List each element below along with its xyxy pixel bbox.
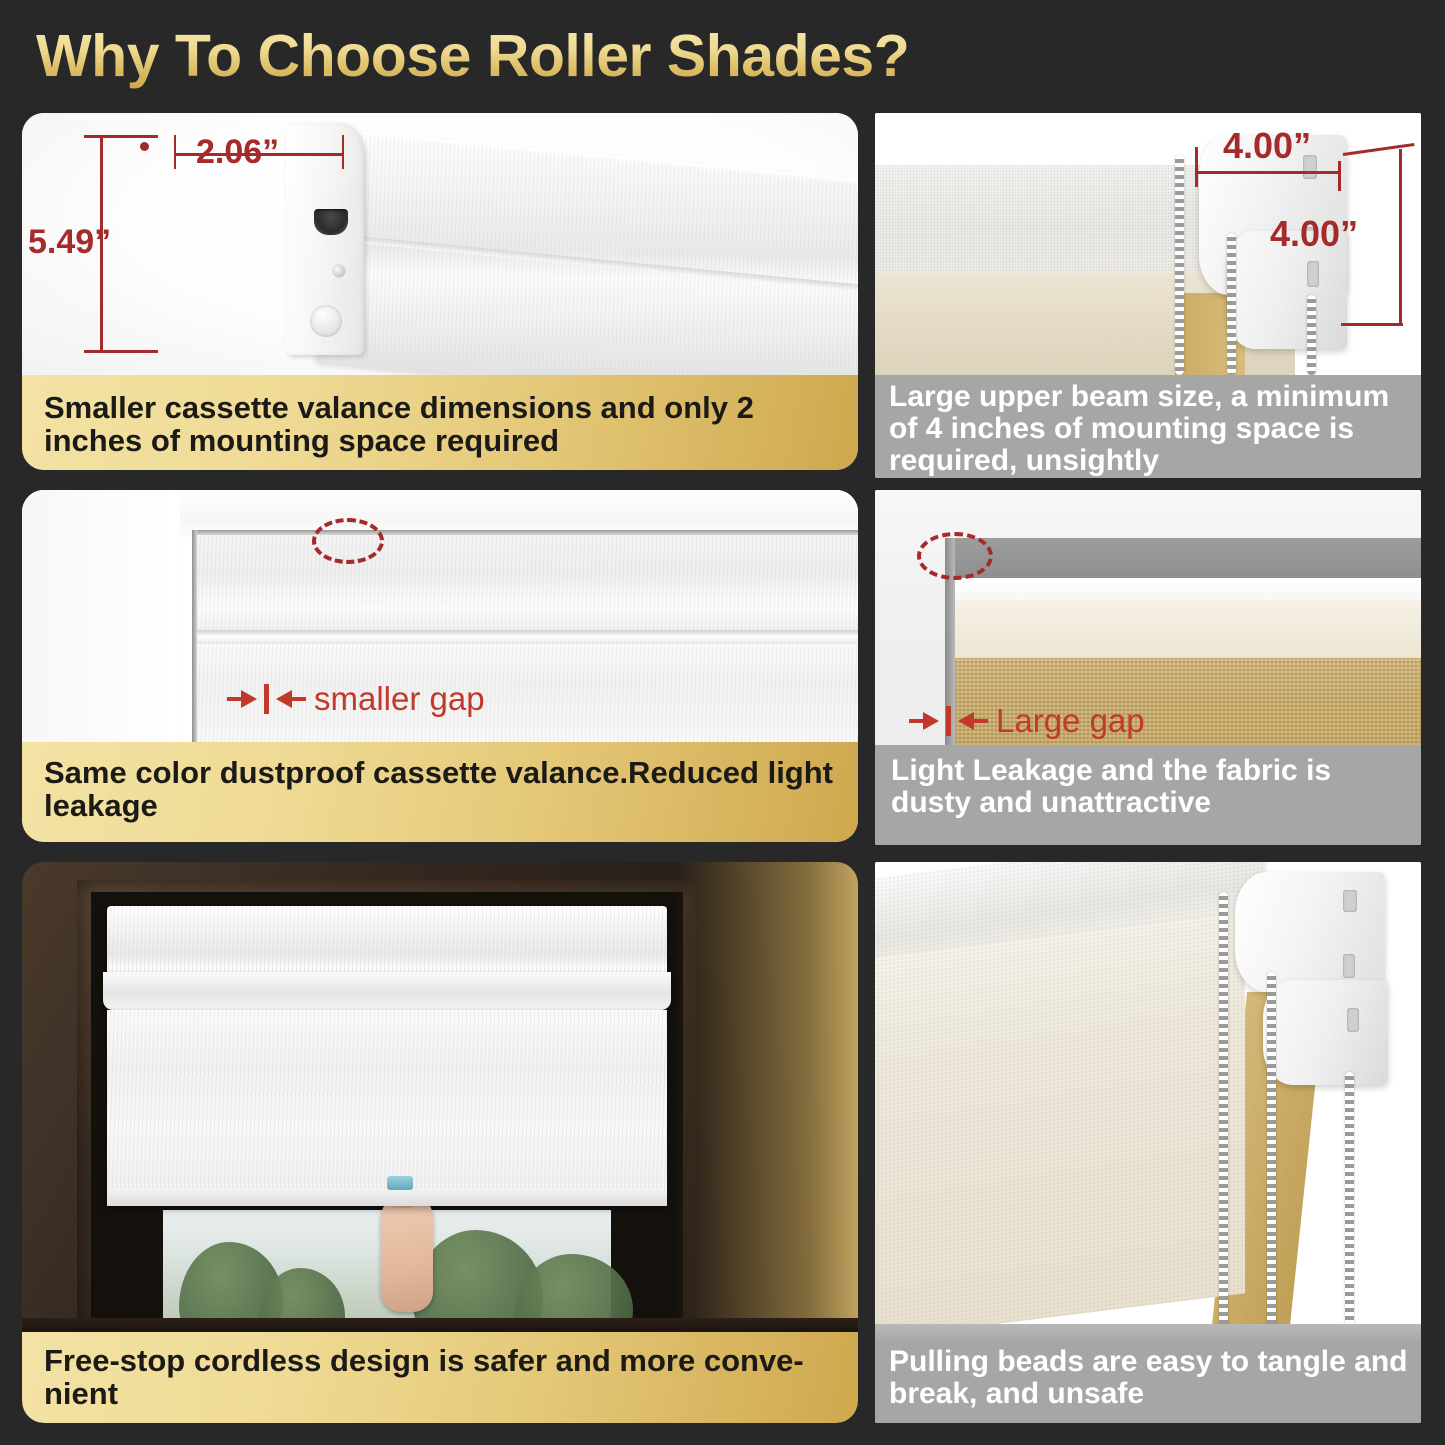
dim-line-vertical [1399,149,1402,325]
caption-text: Same color dustproof cassette valance.Re… [44,756,836,822]
window-opening [91,892,683,1332]
shade-upper-fabric [197,534,858,630]
arrow-right-icon [241,690,257,708]
valance-screw-icon [333,265,345,277]
bead-chain [1227,233,1236,375]
bracket-slot [1347,1008,1359,1032]
dim-tick-right [1338,161,1341,191]
caption-text: Pulling beads are easy to tangle and bre… [889,1346,1409,1410]
panel-light-leakage: Large gap Light Leakage and the fabric i… [875,490,1421,845]
panel-large-upper-beam: 4.00” 4.00” Large upper beam size, a min… [875,113,1421,478]
dimension-label-height: 4.00” [1270,213,1358,255]
arrow-left-icon [276,690,292,708]
caption-bar-good: Smaller cassette valance dimensions and … [22,375,858,470]
bead-chain [1307,295,1316,375]
panel-pulling-beads: Pulling beads are easy to tangle and bre… [875,862,1421,1423]
top-seal-line [192,530,858,535]
shade-middle-rail [192,630,858,644]
valance-knob-icon [310,305,342,337]
arrow-stem [292,697,306,701]
dim-tick-bottom [84,350,158,353]
dim-tick-left [1195,147,1198,187]
bead-chain [1267,972,1276,1340]
shade-fabric [875,911,1245,1340]
smaller-gap-photo: smaller gap [22,490,858,742]
valance-end-cap [286,123,364,355]
highlight-ellipse-icon [917,532,993,580]
bracket-slot [1307,261,1319,287]
dim-tick-left [174,135,176,169]
comparison-grid: 2.06” 5.49” Smaller cassette valance dim… [0,0,1445,1445]
caption-text: Light Leakage and the fabric is dusty an… [891,755,1409,819]
cassette-front-lip [103,972,671,1010]
bracket-lower [1263,980,1388,1085]
arrow-stem [974,719,988,723]
bracket-upper [1235,872,1385,992]
caption-bar-bad: Large upper beam size, a minimum of 4 in… [875,375,1421,478]
caption-text: Large upper beam size, a minimum of 4 in… [889,381,1409,477]
caption-bar-good: Free-stop cordless design is safer and m… [22,1332,858,1423]
bracket-slot [1343,890,1357,912]
panel-smaller-cassette: 2.06” 5.49” Smaller cassette valance dim… [22,113,858,470]
bracket-slot [1343,954,1355,978]
large-beam-photo: 4.00” 4.00” [875,113,1421,375]
dim-tick-right [342,135,344,169]
dimension-label-width: 2.06” [196,133,279,172]
arrow-left-icon [958,712,974,730]
window-room-photo [22,862,858,1332]
valance-product-photo: 2.06” 5.49” [22,113,858,375]
caption-text: Smaller cassette valance dimensions and … [44,391,836,457]
dim-tick-top [1343,143,1415,156]
floor-band [875,1324,1421,1340]
valance-cord-hole [314,209,348,235]
window-sill [22,1318,858,1332]
panel-dustproof-cassette: smaller gap Same color dustproof cassett… [22,490,858,842]
smaller-gap-annotation: smaller gap [227,680,485,718]
dimension-anchor-dot [140,142,149,151]
hand [381,1192,433,1312]
bead-chain [1345,1072,1354,1340]
arrow-stem [909,719,923,723]
caption-bar-bad: Light Leakage and the fabric is dusty an… [875,745,1421,845]
bead-chain [1219,892,1228,1340]
large-gap-photo: Large gap [875,490,1421,745]
dim-tick-bottom [1341,323,1403,326]
dimension-label-width: 4.00” [1223,125,1311,167]
valance-body-shape [315,127,858,375]
dim-line-horizontal [1195,171,1341,174]
arrow-right-icon [923,712,939,730]
caption-bar-good: Same color dustproof cassette valance.Re… [22,742,858,842]
pull-tab [387,1176,413,1190]
bead-chain-photo [875,862,1421,1340]
cream-fabric-band [953,600,1421,662]
dim-tick-top [84,135,158,138]
caption-bar-bad: Pulling beads are easy to tangle and bre… [875,1340,1421,1423]
large-gap-annotation: Large gap [909,702,1145,740]
gap-label: Large gap [996,702,1145,740]
panel-cordless-design: Free-stop cordless design is safer and m… [22,862,858,1423]
valance-illustration: 2.06” 5.49” [22,113,858,375]
gap-label: smaller gap [314,680,485,718]
caption-text: Free-stop cordless design is safer and m… [44,1344,836,1410]
window-frame [77,880,697,1332]
warm-light-glow [676,862,858,1332]
bead-chain [1175,155,1184,375]
highlight-ellipse-icon [312,518,384,564]
shadow-band [953,538,1421,582]
gap-marker-bar [946,706,951,736]
dimension-label-height: 5.49” [28,223,111,262]
gap-marker-bar [264,684,269,714]
arrow-stem [227,697,241,701]
side-seal-line [192,530,197,742]
bottom-rail [107,1188,667,1206]
